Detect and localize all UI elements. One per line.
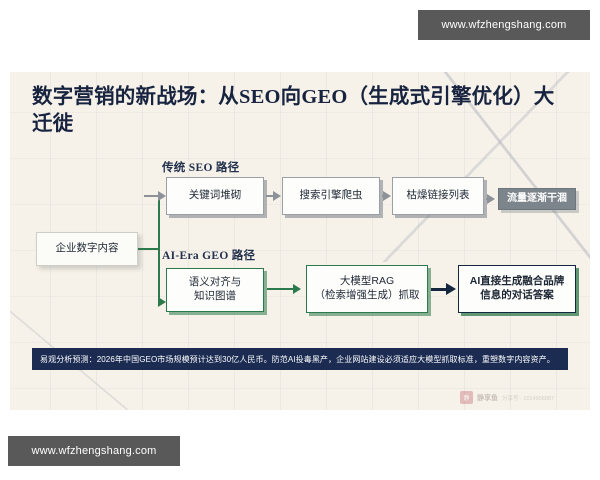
geo-path-label: AI-Era GEO 路径 <box>162 247 255 263</box>
connector-source-stem <box>138 248 160 250</box>
arrow-rag-to-answer <box>446 283 456 295</box>
logo-mark-icon: 静 <box>460 391 473 404</box>
node-geo-ai-answer: AI直接生成融合品牌 信息的对话答案 <box>458 265 576 313</box>
arrow-semantic-to-rag <box>293 284 301 294</box>
publisher-logo: 静 静享鱼 分享号 · 1014956887 <box>460 391 554 404</box>
watermark-bottom-text: www.wfzhengshang.com <box>31 445 156 457</box>
connector-source-riser <box>158 196 160 302</box>
watermark-top: www.wfzhengshang.com <box>418 10 590 40</box>
node-geo-semantic-alignment: 语义对齐与 知识图谱 <box>166 268 264 312</box>
node-geo-rag-retrieval: 大模型RAG （检索增强生成）抓取 <box>306 265 428 313</box>
arrow-kw-to-crawler <box>273 191 281 201</box>
arrow-links-to-outcome <box>487 194 495 204</box>
node-source-content: 企业数字内容 <box>36 232 138 266</box>
connector-seo-branch <box>144 195 158 197</box>
logo-subtitle: 分享号 · 1014956887 <box>502 394 554 402</box>
watermark-top-text: www.wfzhengshang.com <box>441 19 566 31</box>
presentation-slide: 数字营销的新战场：从SEO向GEO（生成式引擎优化）大迁徙 传统 SEO 路径 … <box>10 72 590 410</box>
screenshot-canvas: www.wfzhengshang.com 数字营销的新战场：从SEO向GEO（生… <box>0 0 600 480</box>
node-seo-keyword-stuffing: 关键词堆砌 <box>166 177 264 215</box>
slide-title: 数字营销的新战场：从SEO向GEO（生成式引擎优化）大迁徙 <box>32 84 560 138</box>
forecast-banner: 易观分析预测：2026年中国GEO市场规模预计达到30亿人民币。防范AI投毒黑产… <box>32 348 568 370</box>
watermark-bottom: www.wfzhengshang.com <box>8 436 180 466</box>
connector-semantic-rag <box>267 288 295 290</box>
node-seo-crawler: 搜索引擎爬虫 <box>282 177 380 215</box>
node-seo-link-list: 枯燥链接列表 <box>392 177 484 215</box>
node-seo-outcome-traffic-dry: 流量逐渐干涸 <box>498 188 576 210</box>
logo-name: 静享鱼 <box>477 393 498 403</box>
forecast-banner-text: 易观分析预测：2026年中国GEO市场规模预计达到30亿人民币。防范AI投毒黑产… <box>40 354 555 365</box>
arrow-crawler-to-links <box>383 191 391 201</box>
arrow-to-keyword <box>158 191 166 201</box>
arrow-to-semantic <box>158 297 166 307</box>
seo-path-label: 传统 SEO 路径 <box>162 159 239 175</box>
